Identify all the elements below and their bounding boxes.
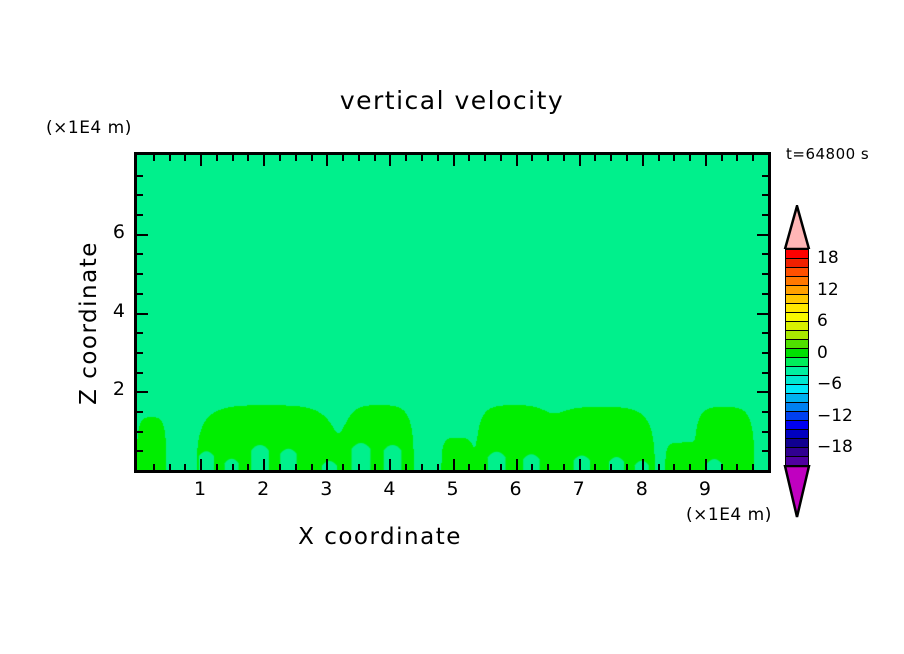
x-major-tick-top: [453, 155, 455, 166]
x-minor-tick-top: [736, 155, 738, 161]
x-major-tick: [200, 459, 202, 470]
x-minor-tick: [169, 464, 171, 470]
x-minor-tick: [500, 464, 502, 470]
x-minor-tick-top: [689, 155, 691, 161]
x-minor-tick-top: [658, 155, 660, 161]
x-minor-tick-top: [626, 155, 628, 161]
y-minor-tick-right: [762, 214, 768, 216]
x-minor-tick: [594, 464, 596, 470]
y-minor-tick-right: [762, 253, 768, 255]
colorbar-tick-label: 6: [817, 311, 828, 331]
x-minor-tick-top: [531, 155, 533, 161]
x-minor-tick: [484, 464, 486, 470]
x-major-tick: [705, 459, 707, 470]
x-minor-tick: [531, 464, 533, 470]
time-stamp-annotation: t=64800 s: [786, 145, 869, 163]
colorbar-upper-arrow: [783, 205, 811, 249]
x-minor-tick: [153, 464, 155, 470]
x-tick-label: 8: [627, 478, 657, 500]
x-minor-tick: [405, 464, 407, 470]
x-major-tick: [326, 459, 328, 470]
x-minor-tick-top: [216, 155, 218, 161]
colorbar-tick-label: −18: [817, 437, 853, 457]
x-minor-tick-top: [437, 155, 439, 161]
y-minor-tick: [137, 411, 143, 413]
x-minor-tick: [232, 464, 234, 470]
x-minor-tick-top: [563, 155, 565, 161]
colorbar-tick-label: 18: [817, 248, 839, 268]
x-tick-label: 6: [501, 478, 531, 500]
x-minor-tick-top: [169, 155, 171, 161]
x-minor-tick-top: [247, 155, 249, 161]
x-minor-tick: [421, 464, 423, 470]
x-minor-tick-top: [673, 155, 675, 161]
x-major-tick: [579, 459, 581, 470]
x-axis-title: X coordinate: [0, 524, 760, 550]
y-minor-tick: [137, 194, 143, 196]
colorbar-lower-arrow: [783, 465, 811, 518]
y-minor-tick-right: [762, 332, 768, 334]
z-axis-unit-label: (×1E4 m): [46, 118, 132, 138]
y-major-tick-right: [757, 391, 768, 393]
x-minor-tick-top: [374, 155, 376, 161]
x-major-tick-top: [263, 155, 265, 166]
x-minor-tick-top: [405, 155, 407, 161]
x-minor-tick: [437, 464, 439, 470]
x-minor-tick-top: [610, 155, 612, 161]
x-minor-tick-top: [594, 155, 596, 161]
page-title: vertical velocity: [0, 86, 904, 115]
x-major-tick: [389, 459, 391, 470]
y-minor-tick-right: [762, 352, 768, 354]
x-minor-tick: [752, 464, 754, 470]
x-minor-tick-top: [500, 155, 502, 161]
y-major-tick: [137, 391, 148, 393]
x-minor-tick-top: [421, 155, 423, 161]
x-minor-tick: [547, 464, 549, 470]
y-minor-tick: [137, 253, 143, 255]
x-minor-tick-top: [184, 155, 186, 161]
x-minor-tick: [610, 464, 612, 470]
x-minor-tick-top: [153, 155, 155, 161]
x-tick-label: 3: [311, 478, 341, 500]
x-minor-tick: [673, 464, 675, 470]
x-minor-tick: [342, 464, 344, 470]
x-tick-label: 5: [438, 478, 468, 500]
x-major-tick-top: [642, 155, 644, 166]
y-major-tick: [137, 313, 148, 315]
y-minor-tick: [137, 450, 143, 452]
x-minor-tick-top: [342, 155, 344, 161]
y-minor-tick: [137, 332, 143, 334]
colorbar-tick-label: 0: [817, 343, 828, 363]
y-major-tick: [137, 234, 148, 236]
y-minor-tick: [137, 273, 143, 275]
y-minor-tick-right: [762, 431, 768, 433]
y-minor-tick-right: [762, 372, 768, 374]
x-major-tick: [263, 459, 265, 470]
x-minor-tick-top: [232, 155, 234, 161]
x-minor-tick-top: [358, 155, 360, 161]
x-minor-tick: [247, 464, 249, 470]
y-minor-tick-right: [762, 175, 768, 177]
x-axis-unit-label: (×1E4 m): [686, 505, 772, 525]
x-tick-label: 7: [564, 478, 594, 500]
x-minor-tick: [216, 464, 218, 470]
y-minor-tick: [137, 214, 143, 216]
colorbar-tick-label: 12: [817, 280, 839, 300]
y-minor-tick: [137, 352, 143, 354]
x-minor-tick-top: [484, 155, 486, 161]
colorbar-tick-label: −12: [817, 406, 853, 426]
colorbar: 181260−6−12−18: [783, 205, 811, 518]
x-major-tick-top: [389, 155, 391, 166]
x-minor-tick: [563, 464, 565, 470]
x-tick-label: 1: [185, 478, 215, 500]
x-major-tick-top: [326, 155, 328, 166]
x-major-tick-top: [516, 155, 518, 166]
x-major-tick-top: [705, 155, 707, 166]
x-minor-tick-top: [311, 155, 313, 161]
x-minor-tick-top: [547, 155, 549, 161]
y-minor-tick: [137, 431, 143, 433]
x-minor-tick: [295, 464, 297, 470]
contour-plot-area: [134, 152, 771, 473]
x-minor-tick: [279, 464, 281, 470]
colorbar-tick-label: −6: [817, 374, 842, 394]
x-minor-tick: [658, 464, 660, 470]
x-minor-tick: [374, 464, 376, 470]
y-minor-tick: [137, 293, 143, 295]
x-minor-tick: [689, 464, 691, 470]
x-major-tick-top: [200, 155, 202, 166]
x-minor-tick: [736, 464, 738, 470]
x-minor-tick-top: [752, 155, 754, 161]
x-minor-tick-top: [295, 155, 297, 161]
y-minor-tick-right: [762, 194, 768, 196]
x-minor-tick-top: [279, 155, 281, 161]
y-minor-tick: [137, 175, 143, 177]
x-major-tick: [516, 459, 518, 470]
x-minor-tick-top: [721, 155, 723, 161]
x-minor-tick: [358, 464, 360, 470]
x-tick-label: 9: [690, 478, 720, 500]
x-tick-label: 4: [374, 478, 404, 500]
x-major-tick-top: [579, 155, 581, 166]
y-minor-tick-right: [762, 293, 768, 295]
x-minor-tick: [311, 464, 313, 470]
vertical-velocity-field: [137, 155, 768, 470]
y-major-tick-right: [757, 313, 768, 315]
y-minor-tick-right: [762, 273, 768, 275]
x-minor-tick: [626, 464, 628, 470]
x-major-tick: [642, 459, 644, 470]
x-minor-tick: [468, 464, 470, 470]
x-minor-tick: [721, 464, 723, 470]
x-tick-label: 2: [248, 478, 278, 500]
y-minor-tick-right: [762, 450, 768, 452]
y-minor-tick: [137, 372, 143, 374]
y-major-tick-right: [757, 234, 768, 236]
x-minor-tick-top: [468, 155, 470, 161]
y-minor-tick-right: [762, 411, 768, 413]
z-axis-title: Z coordinate: [76, 213, 102, 433]
x-minor-tick: [184, 464, 186, 470]
x-major-tick: [453, 459, 455, 470]
